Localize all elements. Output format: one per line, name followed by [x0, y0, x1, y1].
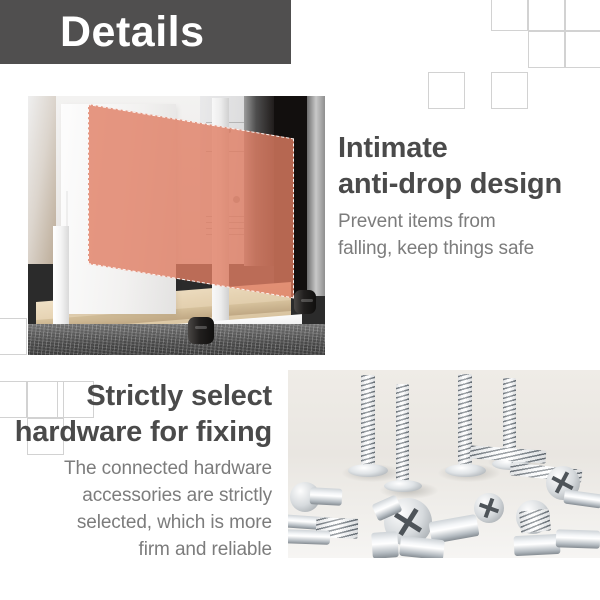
hardware-subcopy-line4: firm and reliable — [139, 539, 272, 560]
desk-photo-caster-wheel — [294, 290, 316, 314]
deco-square-mr-1 — [428, 72, 465, 109]
deco-square-tr-2 — [528, 0, 565, 31]
hardware-headline-line1: Strictly select — [86, 380, 272, 412]
anti-drop-subcopy-line1: Prevent items from — [338, 211, 496, 232]
anti-drop-headline-line2: anti-drop design — [338, 168, 562, 200]
anti-drop-headline: Intimate anti-drop design — [338, 130, 596, 202]
deco-square-mr-2 — [491, 72, 528, 109]
barrel-nut — [556, 529, 600, 549]
desk-cart-photo — [28, 96, 325, 355]
hardware-subcopy-line1: The connected hardware — [64, 458, 272, 479]
deco-square-ml-1 — [0, 318, 27, 355]
dowel-pin — [288, 529, 330, 545]
hardware-subcopy-line2: accessories are strictly — [82, 485, 272, 506]
hardware-subcopy-line3: selected, which is more — [77, 512, 272, 533]
deco-square-tr-3 — [565, 0, 600, 31]
wood-screw — [396, 384, 409, 484]
wood-screw — [361, 375, 375, 467]
desk-photo-right-post — [307, 96, 325, 296]
screw-head — [445, 464, 486, 477]
product-detail-infographic: Details Intimate anti-drop de — [0, 0, 600, 600]
deco-square-tr-1 — [491, 0, 528, 31]
anti-drop-subcopy: Prevent items from falling, keep things … — [338, 208, 596, 262]
hardware-photo — [288, 370, 600, 558]
desk-photo-caster-wheel — [188, 317, 214, 344]
hardware-headline-line2: hardware for fixing — [15, 416, 272, 448]
anti-drop-headline-line1: Intimate — [338, 132, 448, 164]
threaded-insert — [519, 508, 551, 533]
anti-drop-subcopy-line2: falling, keep things safe — [338, 238, 534, 259]
deco-square-tr-4 — [528, 31, 565, 68]
anti-drop-highlight-overlay — [88, 104, 294, 298]
barrel-nut — [514, 534, 561, 556]
cam-lock-shank — [310, 487, 343, 506]
page-title: Details — [60, 4, 205, 61]
barrel-nut — [371, 531, 399, 558]
screw-head — [384, 480, 422, 492]
desk-photo-panel-seam — [66, 191, 68, 226]
wood-screw-lying — [470, 445, 547, 463]
hardware-headline: Strictly select hardware for fixing — [10, 378, 272, 450]
dowel-pin — [563, 489, 600, 508]
barrel-nut — [399, 536, 445, 558]
hardware-subcopy: The connected hardware accessories are s… — [10, 455, 272, 563]
deco-square-tr-5 — [565, 31, 600, 68]
desk-photo-carpet-floor — [28, 324, 325, 355]
screw-head — [348, 464, 388, 477]
